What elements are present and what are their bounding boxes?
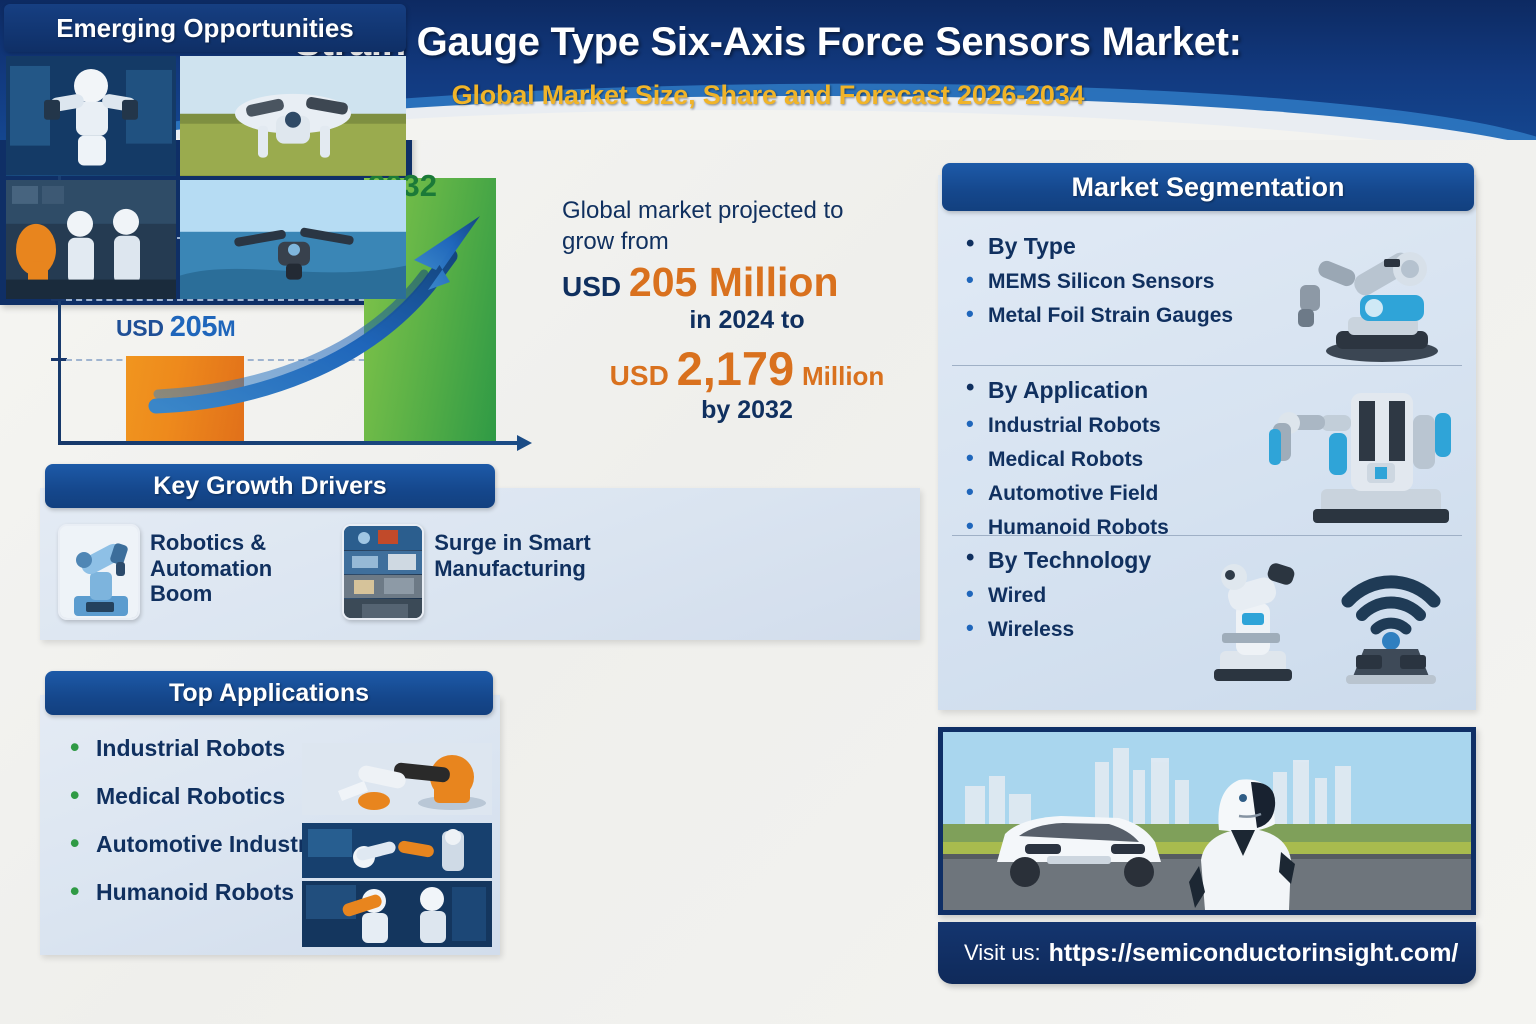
growth-driver-item: Surge in Smart Manufacturing — [342, 524, 590, 620]
growth-driver-2-line2: Manufacturing — [434, 556, 590, 582]
visit-footer-bar[interactable]: Visit us: https://semiconductorinsight.c… — [938, 922, 1476, 984]
industrial-robot-icon — [1255, 371, 1470, 526]
list-item: Humanoid Robots — [70, 879, 320, 906]
segment-divider — [952, 365, 1462, 366]
growth-driver-label: Surge in Smart Manufacturing — [434, 524, 590, 581]
value-2032-prefix: USD — [610, 360, 669, 391]
key-growth-drivers-list: Robotics & Automation Boom — [58, 524, 591, 620]
wired-robot-icon — [1200, 547, 1310, 687]
growth-driver-item: Robotics & Automation Boom — [58, 524, 272, 620]
growth-driver-1-line2: Automation — [150, 556, 272, 582]
industrial-robot-arm-image — [302, 743, 492, 815]
list-item: Metal Foil Strain Gauges — [964, 304, 1233, 328]
growth-driver-label: Robotics & Automation Boom — [150, 524, 272, 607]
infographic-canvas: Strain Gauge Type Six-Axis Force Sensors… — [0, 0, 1536, 1024]
drone-in-field-image — [180, 56, 406, 176]
robots-assembly-line-image — [6, 180, 176, 300]
smart-factory-icon — [342, 524, 424, 620]
list-item: Automotive Field — [964, 482, 1169, 506]
emerging-opportunities-gallery — [6, 56, 406, 299]
list-item: Industrial Robots — [70, 735, 320, 762]
drone-over-coast-image — [180, 180, 406, 300]
top-applications-panel: Top Applications Industrial Robots Medic… — [40, 695, 500, 955]
emerging-opportunities-panel: Emerging Opportunities — [0, 0, 412, 305]
list-item: Industrial Robots — [964, 414, 1169, 438]
list-item: Medical Robotics — [70, 783, 320, 810]
value-2024-amount: 205 Million — [629, 259, 839, 305]
value-2024-line: USD 205 Million — [562, 259, 932, 306]
growth-driver-1-line3: Boom — [150, 581, 272, 607]
growth-driver-2-line1: Surge in Smart — [434, 530, 590, 556]
growth-driver-1-line1: Robotics & — [150, 530, 272, 556]
robot-arm-icon — [58, 524, 140, 620]
robot-arm-sensor-icon — [1274, 233, 1464, 363]
medical-robotics-image — [302, 823, 492, 878]
segment-group-by-application: By Application Industrial Robots Medical… — [964, 377, 1169, 550]
key-growth-drivers-title: Key Growth Drivers — [45, 464, 495, 508]
humanoid-robots-image — [302, 881, 492, 947]
list-item: Wireless — [964, 618, 1151, 642]
projection-mid: in 2024 to — [562, 306, 932, 335]
market-projection-text: Global market projected to grow from USD… — [562, 196, 932, 425]
segment-divider — [952, 535, 1462, 536]
top-applications-list: Industrial Robots Medical Robotics Autom… — [70, 735, 320, 927]
market-segmentation-panel: Market Segmentation By Type MEMS Silicon… — [938, 175, 1476, 710]
list-item: Wired — [964, 584, 1151, 608]
chart-x-axis — [58, 441, 518, 445]
list-item: MEMS Silicon Sensors — [964, 270, 1233, 294]
top-applications-title: Top Applications — [45, 671, 493, 715]
visit-label: Visit us: — [964, 940, 1041, 966]
emerging-opportunities-title: Emerging Opportunities — [4, 4, 406, 52]
market-segmentation-title: Market Segmentation — [942, 163, 1474, 211]
bar-2024-label: USD 205M — [116, 311, 235, 344]
key-growth-drivers-panel: Key Growth Drivers Roboti — [40, 488, 920, 640]
segment-group-by-type: By Type MEMS Silicon Sensors Metal Foil … — [964, 233, 1233, 338]
list-item: Humanoid Robots — [964, 516, 1169, 540]
value-2032-line: USD 2,179 Million — [562, 341, 932, 396]
value-2024-prefix: USD — [562, 271, 621, 302]
projection-end: by 2032 — [562, 396, 932, 425]
bar-2024-label-prefix: USD — [116, 315, 164, 341]
humanoid-robot-factory-image — [6, 56, 176, 176]
segment-group-heading: By Technology — [964, 547, 1151, 574]
automotive-humanoid-image — [938, 727, 1476, 915]
segment-group-heading: By Type — [964, 233, 1233, 260]
chart-y-tick — [51, 358, 67, 361]
list-item: Automotive Industry — [70, 831, 320, 858]
wireless-sensor-icon — [1316, 537, 1466, 687]
value-2032-unit: Million — [802, 361, 884, 391]
list-item: Medical Robots — [964, 448, 1169, 472]
projection-line-2: grow from — [562, 227, 932, 258]
segment-group-by-technology: By Technology Wired Wireless — [964, 547, 1151, 652]
projection-line-1: Global market projected to — [562, 196, 932, 227]
value-2032-amount: 2,179 — [677, 342, 795, 395]
visit-url[interactable]: https://semiconductorinsight.com/ — [1049, 939, 1459, 968]
bar-2024-label-value: 205 — [170, 311, 218, 343]
segment-group-heading: By Application — [964, 377, 1169, 404]
bar-2024-label-suffix: M — [217, 316, 235, 341]
